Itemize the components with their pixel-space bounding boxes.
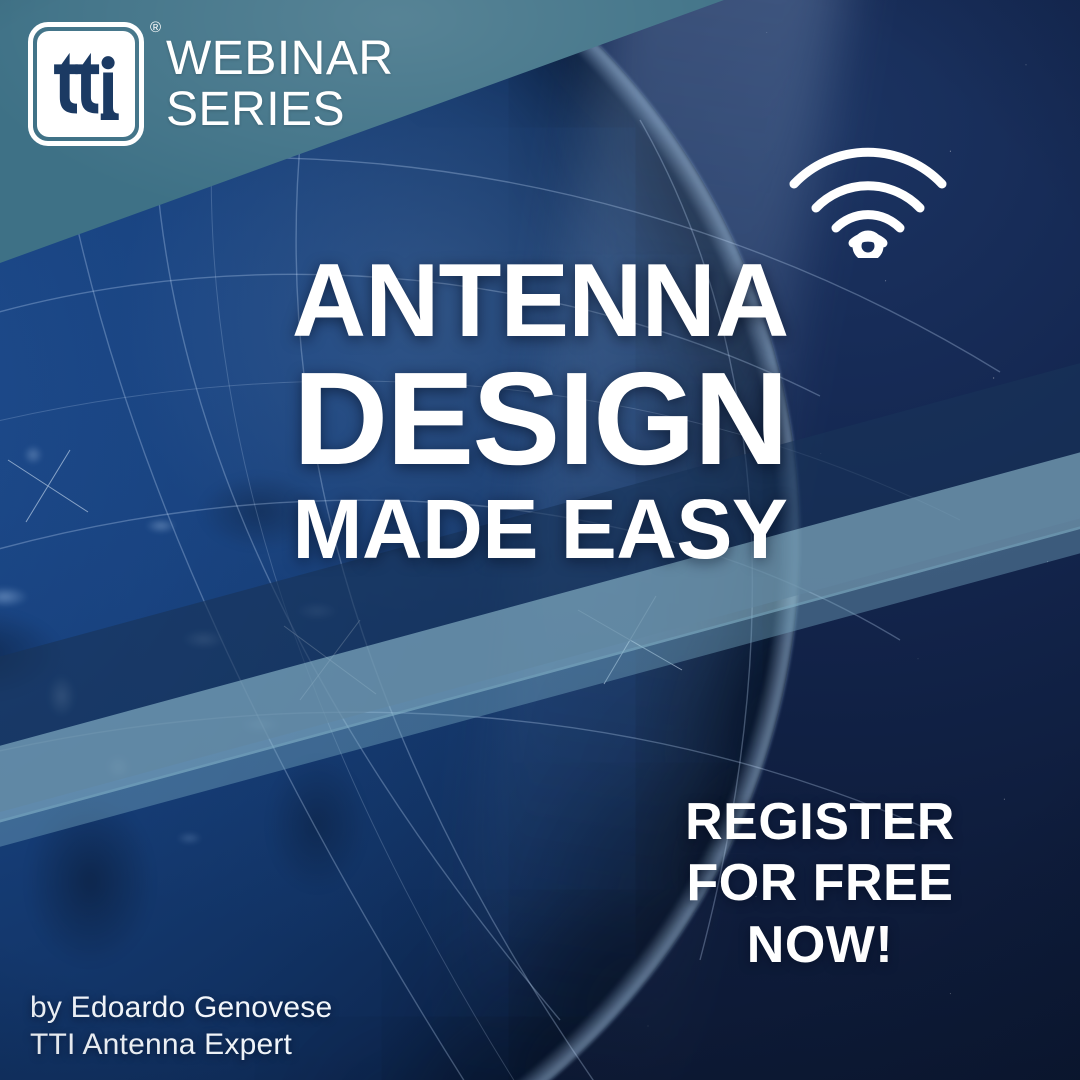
cta-line-3: NOW! — [600, 915, 1040, 976]
wordmark-line-1: WEBINAR — [166, 34, 394, 85]
logo-inner-plate — [37, 31, 135, 137]
wifi-signal-icon — [778, 128, 958, 258]
cta-line-2: FOR FREE — [600, 853, 1040, 914]
byline-speaker-role: TTI Antenna Expert — [30, 1027, 332, 1064]
registered-trademark-icon: ® — [150, 20, 161, 35]
byline-speaker-name: by Edoardo Genovese — [30, 990, 332, 1027]
register-cta[interactable]: REGISTER FOR FREE NOW! — [600, 792, 1040, 976]
headline-line-3: MADE EASY — [0, 487, 1080, 573]
brand-header: ® WEBINAR SERIES — [28, 22, 394, 146]
headline-line-2: DESIGN — [0, 354, 1080, 483]
wordmark-line-2: SERIES — [166, 85, 394, 136]
headline-line-1: ANTENNA — [5, 252, 1074, 352]
cta-line-1: REGISTER — [600, 792, 1040, 853]
tti-lettermark-icon — [45, 48, 127, 120]
webinar-series-wordmark: WEBINAR SERIES — [166, 22, 394, 136]
page-title: ANTENNA DESIGN MADE EASY — [0, 252, 1080, 573]
speaker-byline: by Edoardo Genovese TTI Antenna Expert — [30, 990, 332, 1063]
webinar-promo-poster: ® WEBINAR SERIES ANTENNA DESIGN MADE EAS… — [0, 0, 1080, 1080]
tti-logo[interactable]: ® — [28, 22, 144, 146]
